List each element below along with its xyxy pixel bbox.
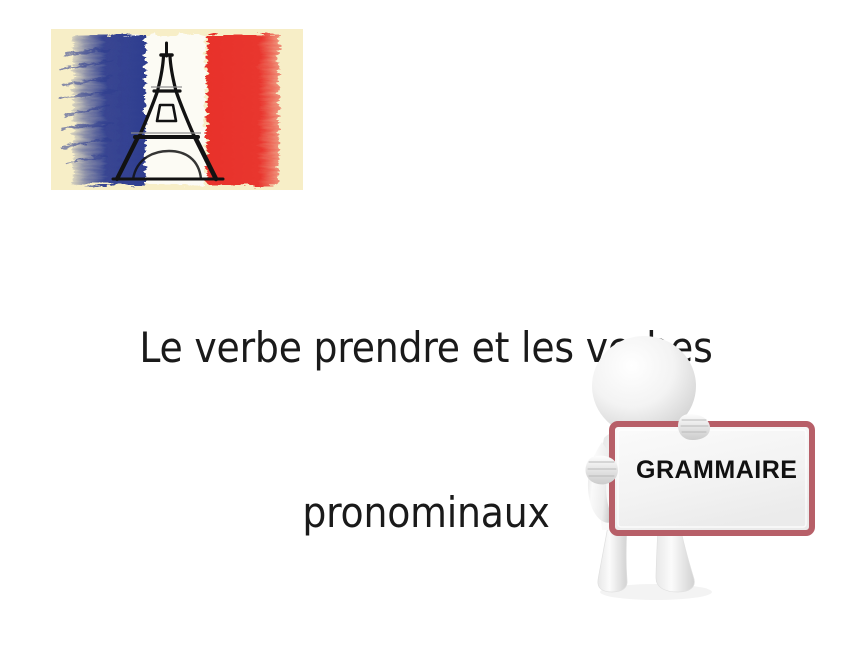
figure-hand-left <box>586 456 619 485</box>
french-flag-eiffel-tower-image <box>51 29 303 190</box>
figure-hand-top <box>678 414 710 440</box>
sign-label-grammaire: GRAMMAIRE <box>636 456 796 485</box>
slide-canvas: Le verbe prendre et les verbes pronomina… <box>0 0 848 636</box>
